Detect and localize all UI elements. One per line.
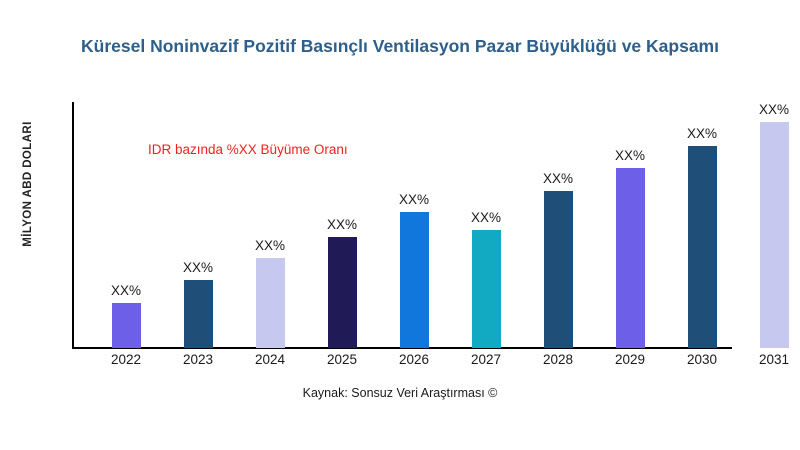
bar-2023[interactable] [184, 280, 213, 348]
bar-chart: Küresel Noninvazif Pozitif Basınçlı Vent… [0, 0, 800, 450]
bar-value-label-2025: XX% [306, 217, 378, 232]
plot-area: XX%XX%XX%XX%XX%XX%XX%XX%XX%XX% [72, 102, 800, 348]
bar-group-2023: XX% [162, 102, 234, 348]
bar-group-2029: XX% [594, 102, 666, 348]
bar-2026[interactable] [400, 212, 429, 348]
bar-2027[interactable] [472, 230, 501, 348]
bar-group-2027: XX% [450, 102, 522, 348]
bar-value-label-2022: XX% [90, 283, 162, 298]
bar-group-2031: XX% [738, 102, 800, 348]
x-tick-2029: 2029 [594, 352, 666, 367]
bar-2030[interactable] [688, 146, 717, 348]
y-axis-label: MİLYON ABD DOLARI [22, 64, 34, 304]
bar-2029[interactable] [616, 168, 645, 348]
chart-title: Küresel Noninvazif Pozitif Basınçlı Vent… [0, 36, 800, 57]
x-tick-2026: 2026 [378, 352, 450, 367]
bar-group-2022: XX% [90, 102, 162, 348]
bar-value-label-2029: XX% [594, 148, 666, 163]
bar-group-2028: XX% [522, 102, 594, 348]
bar-2024[interactable] [256, 258, 285, 348]
bar-group-2030: XX% [666, 102, 738, 348]
bar-2031[interactable] [760, 122, 789, 348]
x-tick-2030: 2030 [666, 352, 738, 367]
bar-2028[interactable] [544, 191, 573, 348]
bar-value-label-2030: XX% [666, 126, 738, 141]
bar-group-2025: XX% [306, 102, 378, 348]
x-tick-2024: 2024 [234, 352, 306, 367]
bar-group-2024: XX% [234, 102, 306, 348]
x-tick-2028: 2028 [522, 352, 594, 367]
x-tick-2022: 2022 [90, 352, 162, 367]
bar-group-2026: XX% [378, 102, 450, 348]
bar-value-label-2023: XX% [162, 260, 234, 275]
bar-value-label-2024: XX% [234, 238, 306, 253]
bar-2022[interactable] [112, 303, 141, 348]
bar-value-label-2031: XX% [738, 102, 800, 117]
x-tick-2025: 2025 [306, 352, 378, 367]
bar-2025[interactable] [328, 237, 357, 348]
bar-value-label-2027: XX% [450, 210, 522, 225]
x-tick-2031: 2031 [738, 352, 800, 367]
bar-value-label-2026: XX% [378, 192, 450, 207]
source-caption: Kaynak: Sonsuz Veri Araştırması © [0, 386, 800, 400]
x-tick-2023: 2023 [162, 352, 234, 367]
bar-value-label-2028: XX% [522, 171, 594, 186]
growth-rate-annotation: IDR bazında %XX Büyüme Oranı [148, 142, 348, 157]
x-tick-2027: 2027 [450, 352, 522, 367]
